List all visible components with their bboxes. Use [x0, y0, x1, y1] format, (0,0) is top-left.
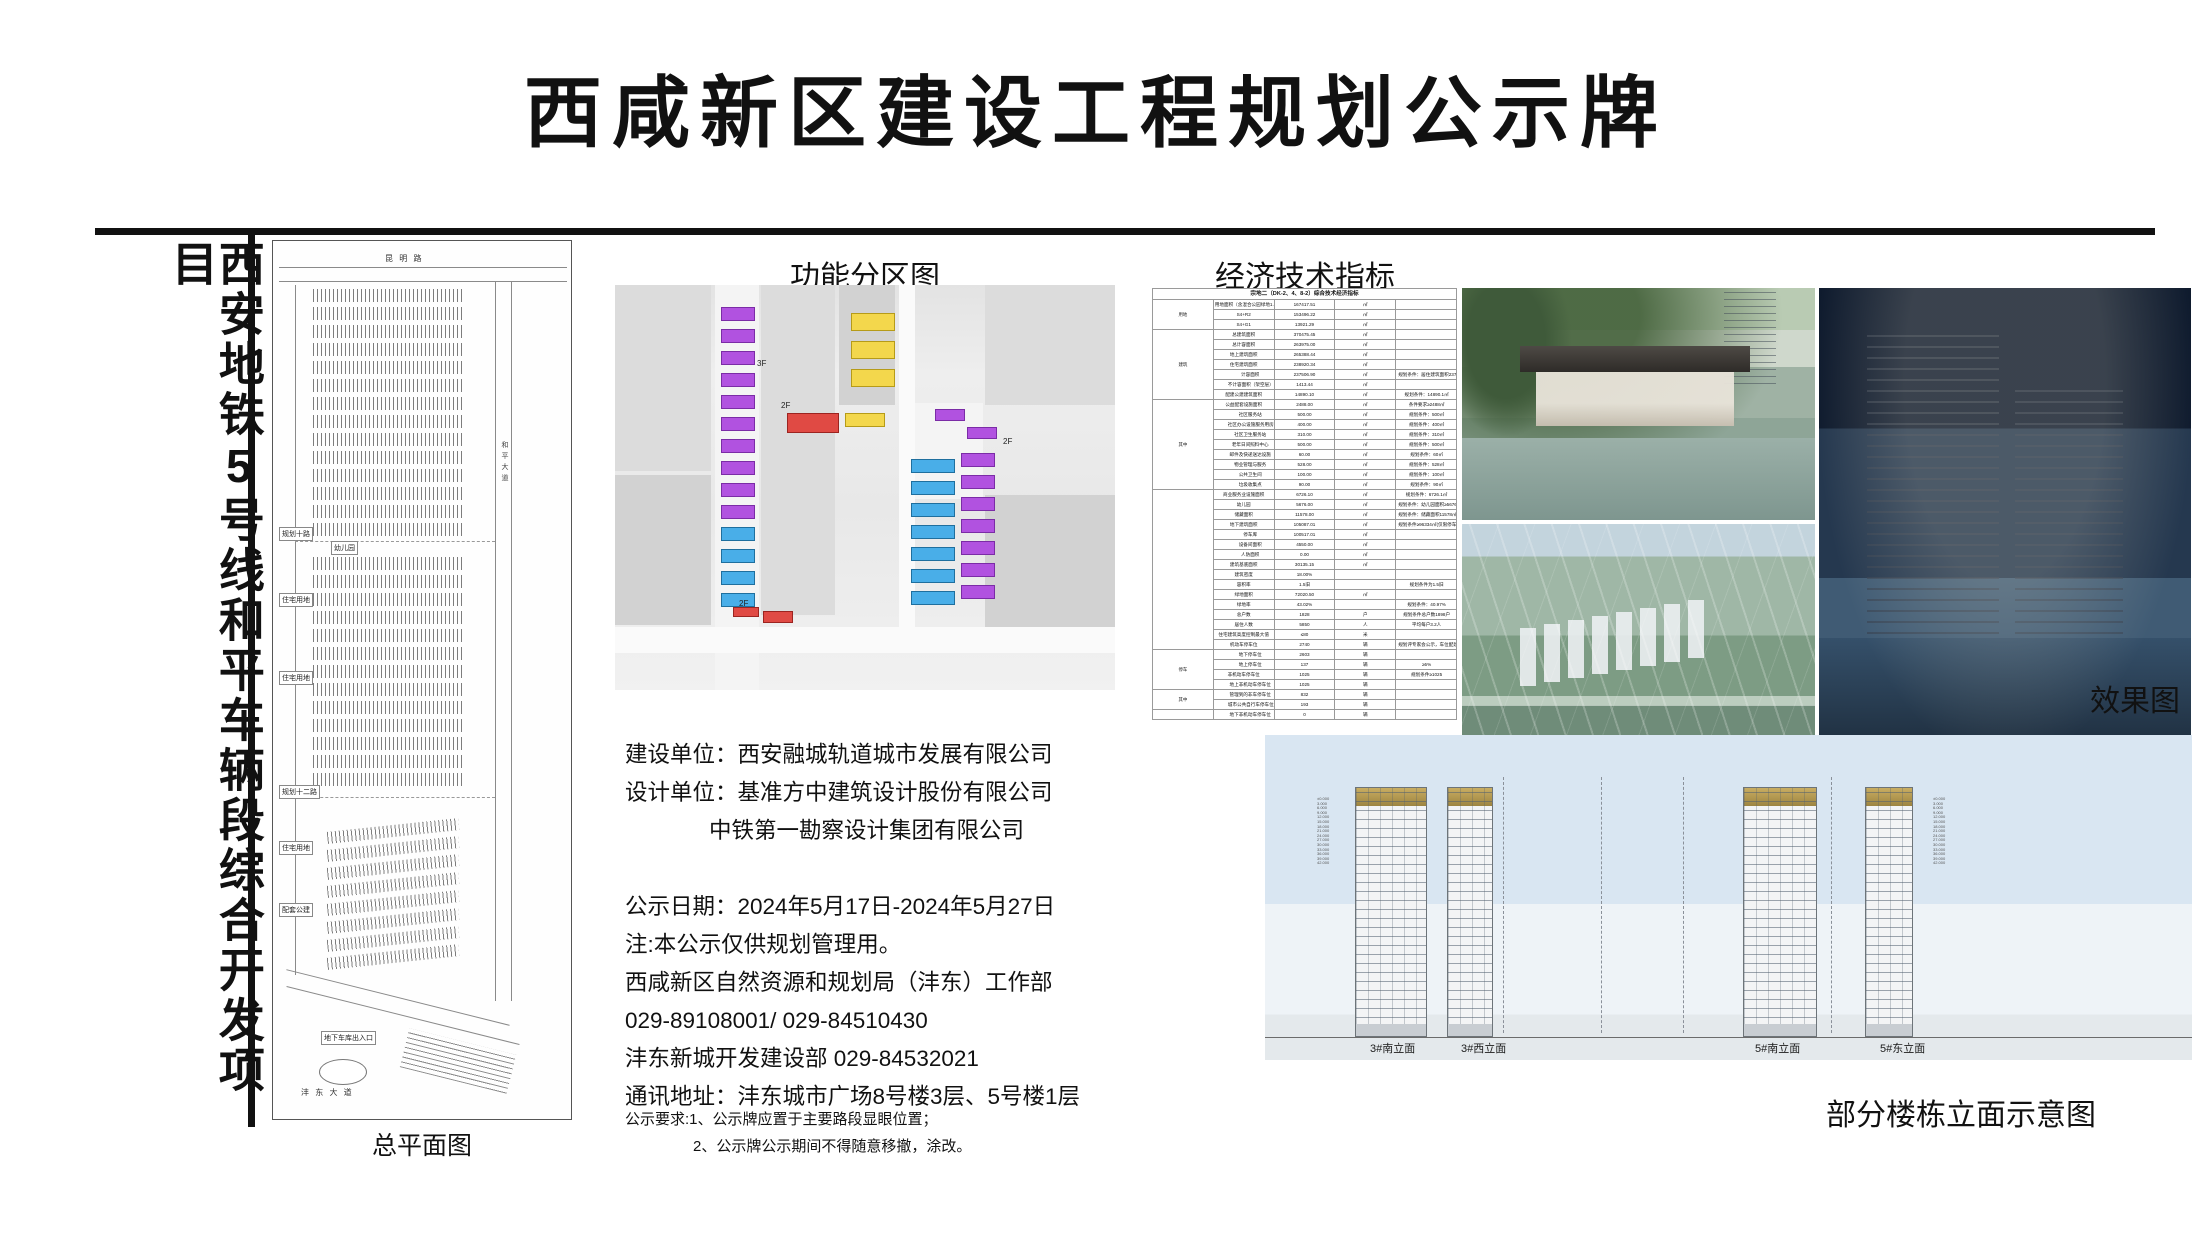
econ-table-row: 其中公益配套设施面积2488.00㎡条件要求≥2488㎡ — [1153, 400, 1457, 410]
econ-row-value: ≤80 — [1274, 630, 1335, 640]
zoning-annotation: 2F — [1003, 437, 1012, 446]
light-rays — [1462, 524, 1815, 756]
elevation-ground-line — [1265, 1037, 2192, 1038]
econ-row-label: 地上建筑面积 — [1213, 350, 1274, 360]
project-vertical-title: 西安地铁5号线和平车辆段综合开发项目 — [168, 240, 230, 1120]
econ-row-note — [1396, 700, 1457, 710]
econ-row-unit: ㎡ — [1335, 520, 1396, 530]
econ-row-value: 500.00 — [1274, 440, 1335, 450]
econ-row-unit: 辆 — [1335, 690, 1396, 700]
econ-table-body: 宗地二（DK-2、4、8-2）综合技术经济指标 用地用地面积（含混合公园绿地1.… — [1153, 289, 1457, 720]
econ-row-note: 规划条件：40.97% — [1396, 600, 1457, 610]
econ-row-unit: 辆 — [1335, 700, 1396, 710]
econ-row-note: 规划条件：500㎡ — [1396, 410, 1457, 420]
econ-row-label: 商业服务业设施面积 — [1213, 490, 1274, 500]
info-phone-secondary: 沣东新城开发建设部 029-84532021 — [625, 1040, 1185, 1078]
econ-row-label: 设备间面积 — [1213, 540, 1274, 550]
econ-row-note — [1396, 560, 1457, 570]
econ-row-value: 238920.34 — [1274, 360, 1335, 370]
econ-row-note: 规划条件：储藏面积11578㎡ — [1396, 510, 1457, 520]
econ-row-value: 400.00 — [1274, 420, 1335, 430]
econ-row-group: 用地 — [1153, 300, 1214, 330]
info-disclosure-period: 公示日期：2024年5月17日-2024年5月27日 — [625, 888, 1185, 926]
econ-row-note — [1396, 320, 1457, 330]
econ-row-note: 规划条件：居住建筑面积237506.9㎡ — [1396, 370, 1457, 380]
econ-row-value: 72020.50 — [1274, 590, 1335, 600]
econ-row-note — [1396, 330, 1457, 340]
econ-row-value: 310.00 — [1274, 430, 1335, 440]
econ-row-label: 建筑基底面积 — [1213, 560, 1274, 570]
econ-row-note — [1396, 310, 1457, 320]
econ-row-unit: 人 — [1335, 620, 1396, 630]
econ-row-note — [1396, 340, 1457, 350]
econ-row-note: 规划条件：100㎡ — [1396, 470, 1457, 480]
planning-disclosure-board: 西咸新区建设工程规划公示牌 西安地铁5号线和平车辆段综合开发项目 昆 明 路 和… — [0, 0, 2192, 1233]
econ-row-label: 机动车停车位 — [1213, 640, 1274, 650]
econ-row-label: 老年日间照料中心 — [1213, 440, 1274, 450]
disclosure-requirements-block: 公示要求:1、公示牌应置于主要路段显眼位置； 2、公示牌公示期间不得随意移撤，涂… — [625, 1106, 1185, 1160]
econ-row-note: 规划条件≥96334㎡(仅限停车库、设备用房面积等批为零)，不设置人防。 — [1396, 520, 1457, 530]
econ-row-value: 500.00 — [1274, 410, 1335, 420]
econ-row-label: 城市公共自行车停车位 — [1213, 700, 1274, 710]
pavilion-body — [1536, 372, 1734, 426]
site-plan-label: 地下车库出入口 — [321, 1031, 376, 1045]
econ-row-note: ≥5% — [1396, 660, 1457, 670]
econ-row-label: 公共卫生间 — [1213, 470, 1274, 480]
econ-row-value: 1413.44 — [1274, 380, 1335, 390]
elevation-label: 5#东立面 — [1880, 1040, 1925, 1056]
project-info-block: 建设单位：西安融城轨道城市发展有限公司 设计单位：基准方中建筑设计股份有限公司 … — [625, 736, 1185, 1116]
econ-row-value: 100517.01 — [1274, 530, 1335, 540]
elevation-dimension-ticks-left: ±0.0003.0006.0009.00012.000 15.00018.000… — [1317, 797, 1329, 866]
econ-row-value: 4550.00 — [1274, 540, 1335, 550]
zoning-annotation: 2F — [781, 401, 790, 410]
econ-table-row: 用地用地面积（含混合公园绿地1.39公顷）167417.51㎡ — [1153, 300, 1457, 310]
rendering-aerial-masterplan — [1462, 524, 1815, 756]
site-plan-label: 规划十路 — [279, 527, 313, 541]
econ-row-note — [1396, 710, 1457, 720]
econ-row-value: 14890.10 — [1274, 390, 1335, 400]
zoning-map-image: 2F 2F 3F 2F — [615, 285, 1115, 690]
econ-row-note: 规划条件：400㎡ — [1396, 420, 1457, 430]
econ-row-note — [1396, 530, 1457, 540]
zoning-annotation: 2F — [739, 599, 748, 608]
economic-indicators-table: 宗地二（DK-2、4、8-2）综合技术经济指标 用地用地面积（含混合公园绿地1.… — [1152, 288, 1457, 720]
econ-row-unit: ㎡ — [1335, 310, 1396, 320]
econ-row-unit: 辆 — [1335, 650, 1396, 660]
renderings-caption: 效果图 — [1462, 676, 2192, 720]
econ-row-label: 储藏面积 — [1213, 510, 1274, 520]
elevation-building-5-east — [1865, 787, 1913, 1037]
econ-row-value: 90.00 — [1274, 480, 1335, 490]
econ-row-unit: 米 — [1335, 630, 1396, 640]
info-spacer — [625, 850, 1185, 888]
econ-row-unit: ㎡ — [1335, 470, 1396, 480]
econ-row-note — [1396, 680, 1457, 690]
econ-table-row: 地下非机动车停车位0辆 — [1153, 710, 1457, 720]
econ-row-value: 263975.00 — [1274, 340, 1335, 350]
econ-row-label: 容积率 — [1213, 580, 1274, 590]
econ-row-value: 237506.90 — [1274, 370, 1335, 380]
econ-table-title: 宗地二（DK-2、4、8-2）综合技术经济指标 — [1153, 289, 1457, 300]
econ-row-unit: ㎡ — [1335, 300, 1396, 310]
info-line: 设计单位：基准方中建筑设计股份有限公司 — [625, 774, 1185, 812]
site-plan-road-bottom: 沣 东 大 道 — [301, 1087, 354, 1098]
econ-row-value: 528.00 — [1274, 460, 1335, 470]
econ-row-note: 规划条件总户数1898户 — [1396, 610, 1457, 620]
page-title: 西咸新区建设工程规划公示牌 — [0, 74, 2192, 152]
econ-row-unit: ㎡ — [1335, 420, 1396, 430]
site-plan-road-right: 和 平 大 道 — [499, 441, 509, 482]
econ-row-unit: ㎡ — [1335, 560, 1396, 570]
econ-row-note — [1396, 590, 1457, 600]
econ-row-value: 153496.22 — [1274, 310, 1335, 320]
site-plan-road-top: 昆 明 路 — [385, 253, 423, 264]
econ-row-note — [1396, 650, 1457, 660]
econ-row-label: 居住人数 — [1213, 620, 1274, 630]
econ-row-label: 垃圾收集点 — [1213, 480, 1274, 490]
econ-row-label: 总户数 — [1213, 610, 1274, 620]
elevation-building-3-south — [1355, 787, 1427, 1037]
elevation-dimension-ticks-right: ±0.0003.0006.0009.00012.000 15.00018.000… — [1933, 797, 1945, 866]
econ-row-value: 0.00 — [1274, 550, 1335, 560]
econ-row-note: 规划条件：60㎡ — [1396, 450, 1457, 460]
econ-row-label: 物业管理与服务 — [1213, 460, 1274, 470]
site-plan-label: 住宅用地 — [279, 841, 313, 855]
building-elevations-image: ±0.0003.0006.0009.00012.000 15.00018.000… — [1265, 735, 2192, 1060]
econ-row-value: 167417.51 — [1274, 300, 1335, 310]
econ-table-row: 其中管理到的非车停车位832辆 — [1153, 690, 1457, 700]
econ-row-unit: ㎡ — [1335, 430, 1396, 440]
econ-row-label: 住宅建筑高度控制最大值 — [1213, 630, 1274, 640]
elevation-label: 3#西立面 — [1461, 1040, 1506, 1056]
elevation-building-3-west — [1447, 787, 1493, 1037]
econ-table-title-row: 宗地二（DK-2、4、8-2）综合技术经济指标 — [1153, 289, 1457, 300]
info-note: 注:本公示仅供规划管理用。 — [625, 926, 1185, 964]
elevation-building-5-south — [1743, 787, 1817, 1037]
econ-row-label: 社区办公设施服务用房 — [1213, 420, 1274, 430]
econ-row-value: 100.00 — [1274, 470, 1335, 480]
econ-row-label: 地下非机动车停车位 — [1213, 710, 1274, 720]
econ-row-label: 总建筑面积 — [1213, 330, 1274, 340]
econ-row-unit: ㎡ — [1335, 340, 1396, 350]
econ-row-note: 条件要求≥2488㎡ — [1396, 400, 1457, 410]
econ-row-value: 1.5旧 — [1274, 580, 1335, 590]
site-plan-caption: 总平面图 — [272, 1126, 572, 1162]
econ-row-value: 11578.00 — [1274, 510, 1335, 520]
econ-row-value: 137 — [1274, 660, 1335, 670]
econ-row-label: 社区卫生服务站 — [1213, 430, 1274, 440]
econ-row-value: 2603 — [1274, 650, 1335, 660]
elevation-label: 3#南立面 — [1370, 1040, 1415, 1056]
econ-row-value: 265388.44 — [1274, 350, 1335, 360]
econ-row-unit: ㎡ — [1335, 360, 1396, 370]
site-plan-drawing: 昆 明 路 和 平 大 道 — [272, 240, 572, 1120]
site-plan-label: 住宅用地 — [279, 593, 313, 607]
econ-row-note: 规划条件：幼儿园面积≥5676㎡ — [1396, 500, 1457, 510]
econ-row-label: 地下停车位 — [1213, 650, 1274, 660]
econ-row-group — [1153, 710, 1214, 720]
econ-table-row: 建筑总建筑面积370475.45㎡ — [1153, 330, 1457, 340]
econ-row-label: 社区服务站 — [1213, 410, 1274, 420]
econ-row-unit — [1335, 580, 1396, 590]
econ-table-row: 停车地下停车位2603辆 — [1153, 650, 1457, 660]
econ-row-label: 计容面积 — [1213, 370, 1274, 380]
econ-row-value: 18.00% — [1274, 570, 1335, 580]
site-plan-label: 配套公建 — [279, 903, 313, 917]
pavilion-roof — [1520, 346, 1750, 372]
econ-row-value: 6726.10 — [1274, 490, 1335, 500]
econ-row-label: 不计容面积（架空层） — [1213, 380, 1274, 390]
econ-row-label: 停车库 — [1213, 530, 1274, 540]
econ-row-unit: ㎡ — [1335, 350, 1396, 360]
econ-row-note — [1396, 690, 1457, 700]
econ-row-value: 370475.45 — [1274, 330, 1335, 340]
info-line: 中铁第一勘察设计集团有限公司 — [625, 812, 1185, 850]
econ-row-label: 绿地面积 — [1213, 590, 1274, 600]
econ-row-note: 规划条件≥1025 — [1396, 670, 1457, 680]
econ-row-label: 总计容面积 — [1213, 340, 1274, 350]
econ-row-value: 13921.29 — [1274, 320, 1335, 330]
econ-row-unit: 辆 — [1335, 640, 1396, 650]
econ-row-value: 5676.00 — [1274, 500, 1335, 510]
econ-row-group: 其中 — [1153, 400, 1214, 490]
econ-row-group: 停车 — [1153, 650, 1214, 690]
econ-row-label: 地下建筑面积 — [1213, 520, 1274, 530]
econ-row-label: 绿地率 — [1213, 600, 1274, 610]
econ-row-value: 2488.00 — [1274, 400, 1335, 410]
econ-row-value: 60.00 — [1274, 450, 1335, 460]
econ-row-note: 规划评专家会公示，车位配建数量需足规划2740辆，其中访客车位147个。 — [1396, 640, 1457, 650]
econ-row-label: 非机动车停车位 — [1213, 670, 1274, 680]
title-divider — [95, 228, 2155, 235]
econ-row-note — [1396, 570, 1457, 580]
econ-row-label: 配建公建建筑面积 — [1213, 390, 1274, 400]
econ-row-unit: 辆 — [1335, 670, 1396, 680]
site-plan-label: 规划十二路 — [279, 785, 320, 799]
econ-row-note — [1396, 300, 1457, 310]
econ-row-unit: 户 — [1335, 610, 1396, 620]
econ-row-label: 住宅建筑面积 — [1213, 360, 1274, 370]
econ-row-unit: ㎡ — [1335, 500, 1396, 510]
econ-row-note: 规划条件：6726.1㎡ — [1396, 490, 1457, 500]
econ-row-unit: 辆 — [1335, 710, 1396, 720]
econ-row-label: 邮件及快递送达设施 — [1213, 450, 1274, 460]
econ-row-note: 规划条件：90㎡ — [1396, 480, 1457, 490]
econ-row-label: 管理到的非车停车位 — [1213, 690, 1274, 700]
econ-row-unit — [1335, 600, 1396, 610]
econ-row-note — [1396, 380, 1457, 390]
econ-row-unit: ㎡ — [1335, 440, 1396, 450]
econ-row-unit: 辆 — [1335, 660, 1396, 670]
econ-row-unit: ㎡ — [1335, 390, 1396, 400]
econ-row-unit: ㎡ — [1335, 550, 1396, 560]
econ-row-note: 规划条件：14890.1㎡ — [1396, 390, 1457, 400]
zoning-annotation: 3F — [757, 359, 766, 368]
econ-row-note: 规划条件：500㎡ — [1396, 440, 1457, 450]
econ-row-group: 建筑 — [1153, 330, 1214, 400]
econ-row-unit: 辆 — [1335, 680, 1396, 690]
econ-row-value: 43.02% — [1274, 600, 1335, 610]
info-line: 建设单位：西安融城轨道城市发展有限公司 — [625, 736, 1185, 774]
econ-row-unit: ㎡ — [1335, 480, 1396, 490]
econ-row-unit: ㎡ — [1335, 530, 1396, 540]
econ-row-unit: ㎡ — [1335, 320, 1396, 330]
econ-row-note — [1396, 360, 1457, 370]
econ-row-unit: ㎡ — [1335, 410, 1396, 420]
requirement-line: 2、公示牌公示期间不得随意移撤，涂改。 — [625, 1133, 1185, 1160]
econ-row-unit: ㎡ — [1335, 380, 1396, 390]
econ-row-note — [1396, 540, 1457, 550]
econ-row-value: 30135.15 — [1274, 560, 1335, 570]
econ-row-unit: ㎡ — [1335, 590, 1396, 600]
econ-row-label: 地上非机动车停车位 — [1213, 680, 1274, 690]
vertical-title-divider — [248, 232, 255, 1127]
econ-row-group: 其中 — [1153, 690, 1214, 710]
econ-row-note: 规划条件：310㎡ — [1396, 430, 1457, 440]
econ-row-unit: ㎡ — [1335, 460, 1396, 470]
econ-row-unit: ㎡ — [1335, 510, 1396, 520]
econ-row-label: S4+R2 — [1213, 310, 1274, 320]
econ-row-unit: ㎡ — [1335, 490, 1396, 500]
econ-row-value: 105087.01 — [1274, 520, 1335, 530]
econ-row-note — [1396, 550, 1457, 560]
econ-row-unit: ㎡ — [1335, 370, 1396, 380]
info-authority: 西咸新区自然资源和规划局（沣东）工作部 — [625, 964, 1185, 1002]
elevations-caption: 部分楼栋立面示意图 — [1265, 1090, 2192, 1134]
econ-row-value: 1025 — [1274, 680, 1335, 690]
econ-row-note: 平均每户3.2人 — [1396, 620, 1457, 630]
econ-row-note: 规划条件：528㎡ — [1396, 460, 1457, 470]
water-feature — [1462, 438, 1815, 520]
econ-row-value: 0 — [1274, 710, 1335, 720]
econ-row-unit: ㎡ — [1335, 400, 1396, 410]
econ-table-row: 商业服务业设施面积6726.10㎡规划条件：6726.1㎡ — [1153, 490, 1457, 500]
requirement-line: 公示要求:1、公示牌应置于主要路段显眼位置； — [625, 1106, 1185, 1133]
econ-row-value: 193 — [1274, 700, 1335, 710]
econ-row-label: 公益配套设施面积 — [1213, 400, 1274, 410]
site-plan-label: 住宅用地 — [279, 671, 313, 685]
econ-row-note — [1396, 350, 1457, 360]
econ-row-unit — [1335, 570, 1396, 580]
econ-row-label: 建筑密度 — [1213, 570, 1274, 580]
econ-row-label: S4+G1 — [1213, 320, 1274, 330]
econ-row-value: 5850 — [1274, 620, 1335, 630]
econ-row-value: 832 — [1274, 690, 1335, 700]
econ-row-label: 用地面积（含混合公园绿地1.39公顷） — [1213, 300, 1274, 310]
econ-row-note — [1396, 630, 1457, 640]
econ-row-value: 1828 — [1274, 610, 1335, 620]
econ-row-value: 1025 — [1274, 670, 1335, 680]
econ-row-label: 地上停车位 — [1213, 660, 1274, 670]
econ-row-unit: ㎡ — [1335, 450, 1396, 460]
site-plan-label: 幼儿园 — [331, 541, 358, 555]
info-phone-primary: 029-89108001/ 029-84510430 — [625, 1002, 1185, 1040]
econ-row-value: 2740 — [1274, 640, 1335, 650]
econ-row-note: 规划条件为1.5旧 — [1396, 580, 1457, 590]
econ-row-label: 人防面积 — [1213, 550, 1274, 560]
econ-row-unit: ㎡ — [1335, 540, 1396, 550]
econ-row-group — [1153, 490, 1214, 650]
elevation-label: 5#南立面 — [1755, 1040, 1800, 1056]
econ-row-label: 幼儿园 — [1213, 500, 1274, 510]
rendering-courtyard-photo — [1462, 288, 1815, 520]
econ-row-unit: ㎡ — [1335, 330, 1396, 340]
